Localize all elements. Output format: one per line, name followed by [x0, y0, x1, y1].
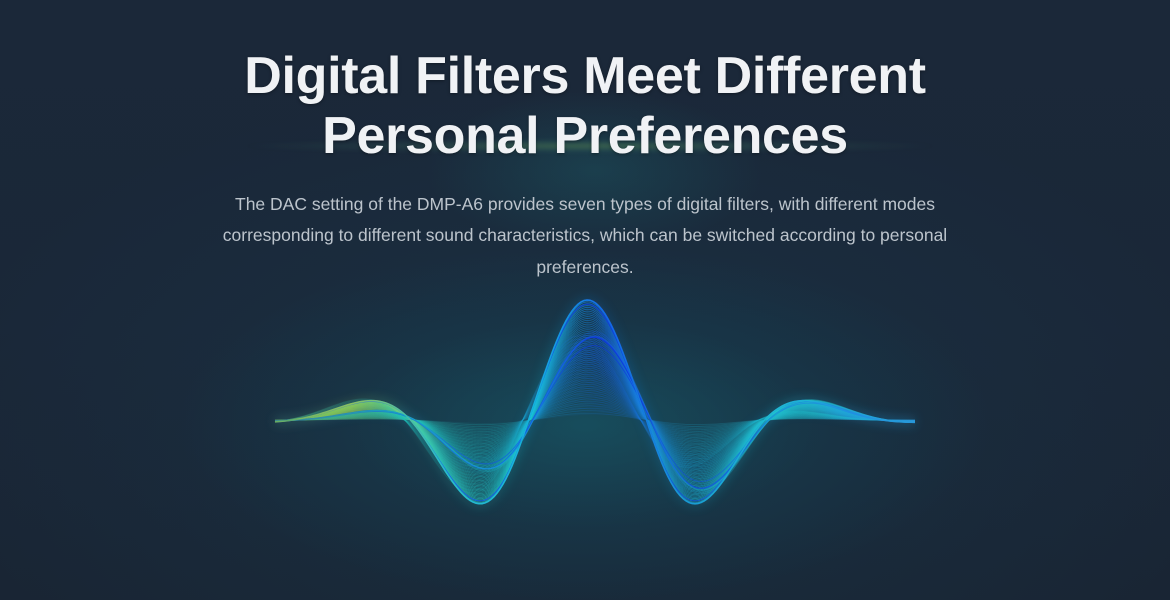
hero-text-block: Digital Filters Meet Different Personal … — [0, 0, 1170, 284]
waveform-visual — [0, 270, 1170, 600]
page-subtitle: The DAC setting of the DMP-A6 provides s… — [190, 167, 980, 285]
page-title-line-2: Personal Preferences — [0, 106, 1170, 166]
waveform-svg — [0, 270, 1170, 600]
page-root: Digital Filters Meet Different Personal … — [0, 0, 1170, 600]
page-title-line-1: Digital Filters Meet Different — [0, 46, 1170, 106]
page-title: Digital Filters Meet Different Personal … — [0, 0, 1170, 167]
